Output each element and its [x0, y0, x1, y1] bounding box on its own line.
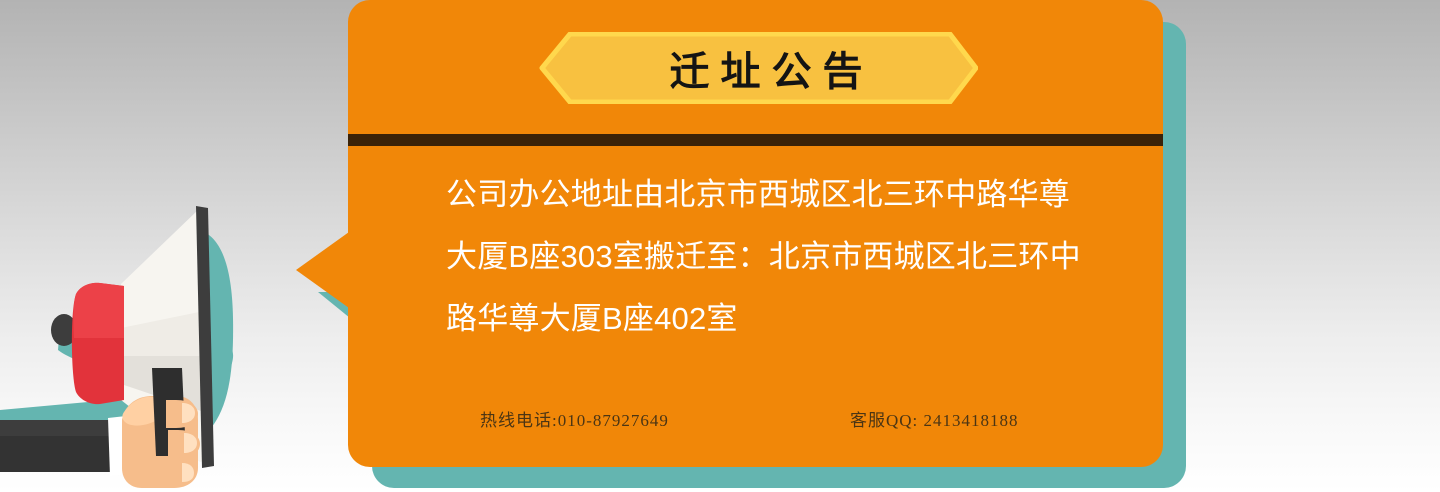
announcement-banner: 迁址公告 公司办公地址由北京市西城区北三环中路华尊大厦B座303室搬迁至：北京市… [0, 0, 1440, 492]
page-title: 迁址公告 [536, 32, 978, 104]
title-ribbon: 迁址公告 [536, 32, 978, 104]
megaphone-icon [0, 188, 310, 492]
qq-text: 客服QQ: 2413418188 [850, 406, 1080, 431]
header-divider [348, 134, 1163, 146]
hotline-text: 热线电话:010-87927649 [480, 406, 850, 431]
announcement-card: 迁址公告 公司办公地址由北京市西城区北三环中路华尊大厦B座303室搬迁至：北京市… [348, 0, 1163, 467]
contact-row: 热线电话:010-87927649 客服QQ: 2413418188 [480, 406, 1080, 431]
fingers [166, 400, 200, 486]
announcement-body: 公司办公地址由北京市西城区北三环中路华尊大厦B座303室搬迁至：北京市西城区北三… [446, 164, 1094, 350]
